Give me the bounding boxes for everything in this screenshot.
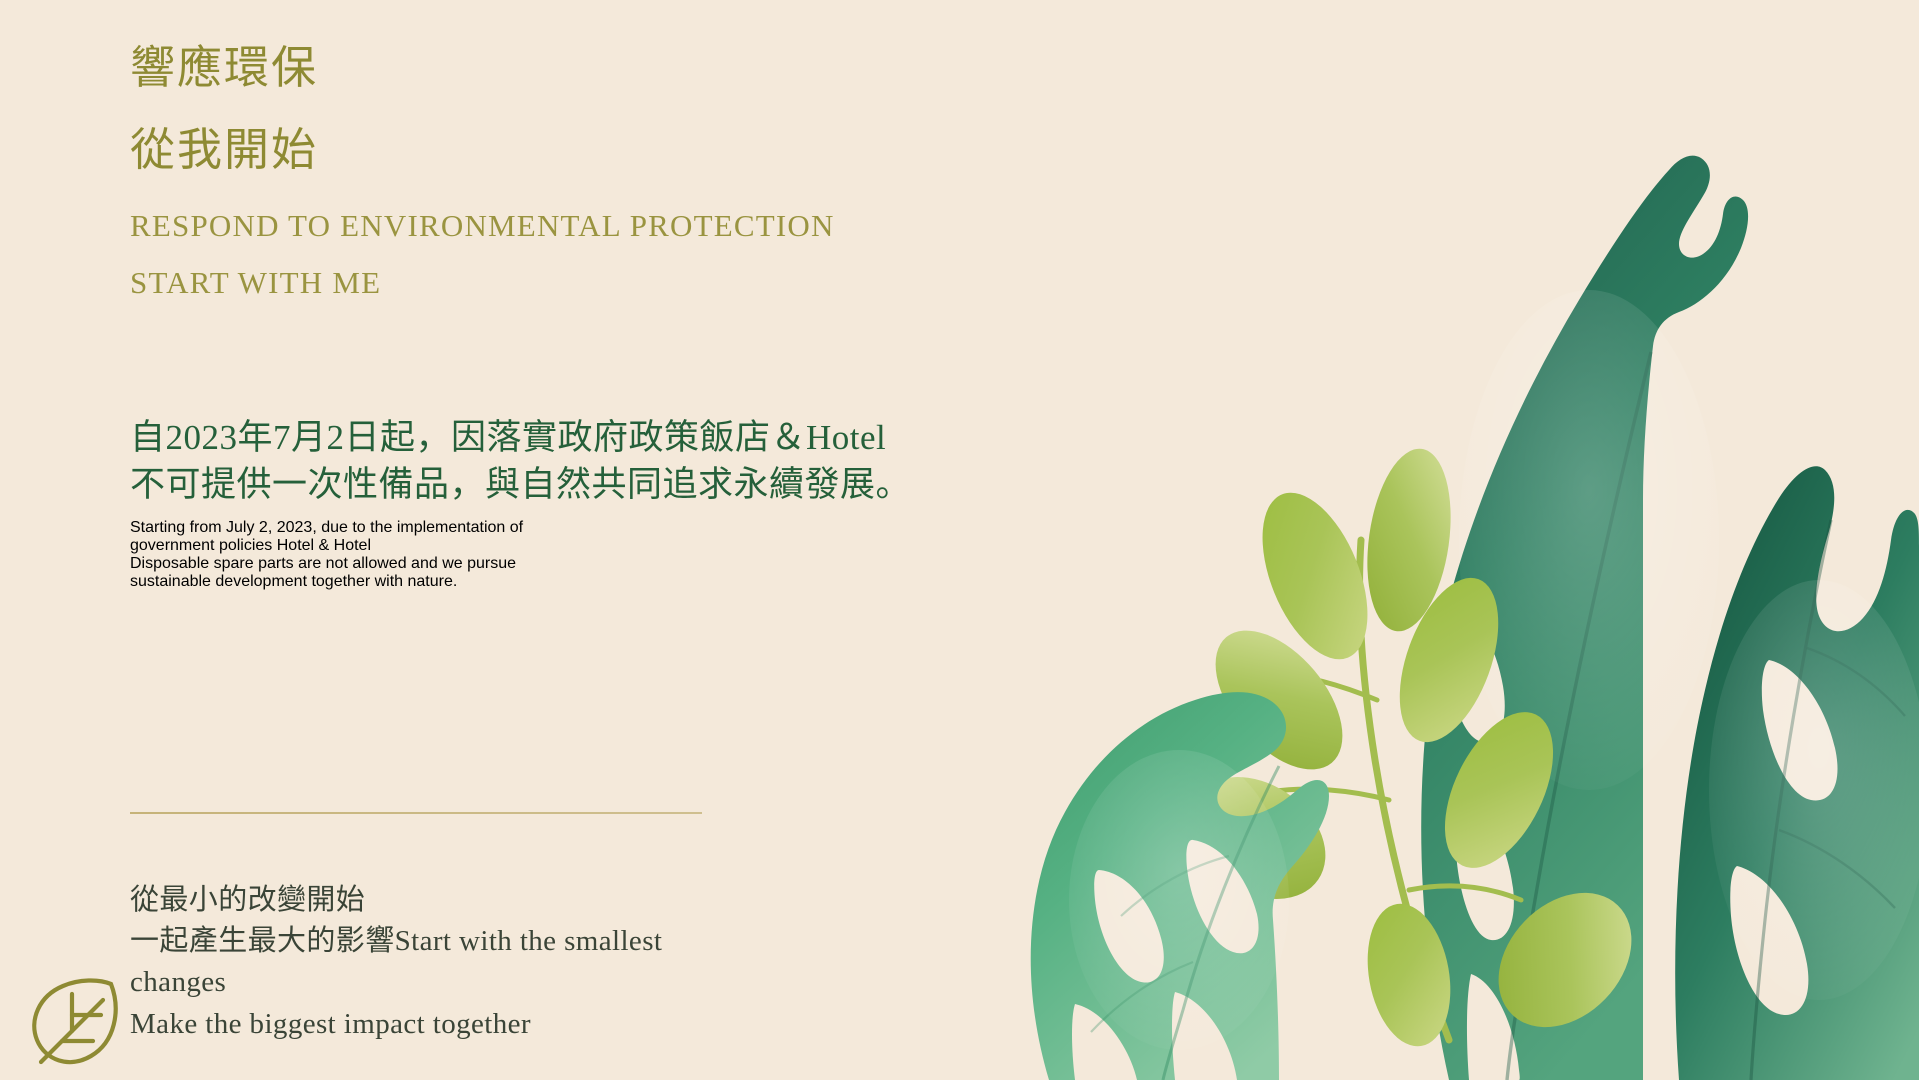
headline-line-2: 從我開始 — [130, 117, 318, 184]
leaflet — [1357, 897, 1461, 1053]
leaflet — [1472, 866, 1658, 1053]
leaf-monstera-large — [1421, 156, 1748, 1080]
body-block: 自2023年7月2日起，因落實政府政策飯店＆Hotel 不可提供一次性備品，與自… — [130, 415, 1190, 607]
body-english-line-1: Starting from July 2, 2023, due to the i… — [130, 519, 1190, 537]
leaf-monstera-right — [1675, 466, 1919, 1080]
body-chinese-line-2: 不可提供一次性備品，與自然共同追求永續發展。 — [130, 465, 911, 504]
body-english — [130, 509, 1190, 519]
footer-line-1: 從最小的改變開始 — [130, 880, 1030, 921]
leaflet — [1380, 565, 1518, 755]
footer-line-3: changes — [130, 962, 1030, 1003]
poster-canvas: 響應環保 從我開始 RESPOND TO ENVIRONMENTAL PROTE… — [0, 0, 1919, 1080]
body-chinese: 自2023年7月2日起，因落實政府政策飯店＆Hotel 不可提供一次性備品，與自… — [130, 415, 1190, 509]
leaflet — [1357, 443, 1462, 636]
body-chinese-line-1: 自2023年7月2日起，因落實政府政策飯店＆Hotel — [130, 418, 886, 457]
subheading-line-2: START WITH ME — [130, 265, 381, 301]
leaflet — [1191, 608, 1367, 793]
leaflet — [1423, 695, 1576, 885]
body-english-line-2: government policies Hotel & Hotel — [130, 537, 1190, 555]
headline-line-1: 響應環保 — [130, 35, 318, 102]
body-english-line-4: sustainable development together with na… — [130, 573, 1190, 591]
text-column: 響應環保 從我開始 RESPOND TO ENVIRONMENTAL PROTE… — [130, 0, 1210, 1080]
footer-block: 從最小的改變開始 一起產生最大的影響Start with the smalles… — [130, 880, 1030, 1045]
subheading-line-1: RESPOND TO ENVIRONMENTAL PROTECTION — [130, 208, 835, 244]
leaflet — [1241, 478, 1389, 674]
footer-line-4: Make the biggest impact together — [130, 1004, 1030, 1045]
footer-line-2: 一起產生最大的影響Start with the smallest — [130, 921, 1030, 962]
body-english-line-3: Disposable spare parts are not allowed a… — [130, 555, 1190, 573]
leaf-logo-icon — [25, 970, 129, 1074]
section-divider — [130, 812, 702, 814]
leaf-olive-branch — [1165, 443, 1658, 1053]
